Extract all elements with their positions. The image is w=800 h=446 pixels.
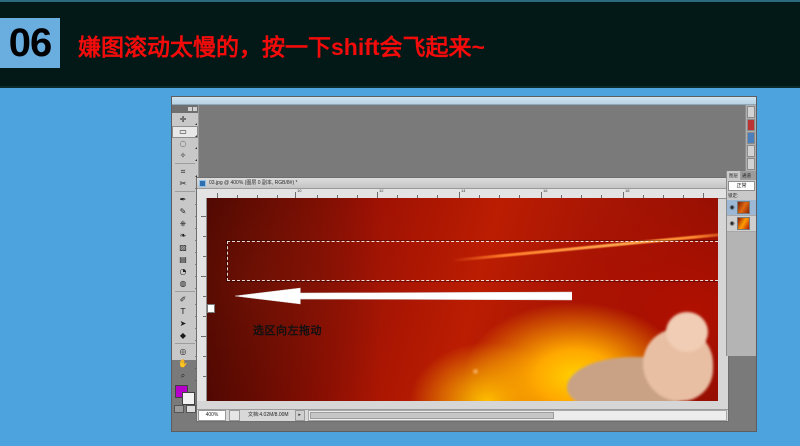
slice-tool-icon: ✂ xyxy=(175,179,191,190)
application-title-bar[interactable] xyxy=(172,97,756,105)
magic-wand-tool-icon: ✧ xyxy=(175,151,191,162)
tool-pen-tool[interactable]: ✐ xyxy=(172,294,198,306)
tool-hand-tool[interactable]: ✋ xyxy=(172,358,198,370)
selection-marquee[interactable] xyxy=(227,241,718,282)
tool-path-selection-tool[interactable]: ➤ xyxy=(172,318,198,330)
ruler-label: 10 xyxy=(297,189,301,193)
tool-history-brush-tool[interactable]: ❧ xyxy=(172,230,198,242)
history-panel-icon[interactable] xyxy=(747,132,755,144)
document-size-info: 文档:4.02M/8.00M xyxy=(248,413,289,418)
horizontal-scrollbar[interactable] xyxy=(308,410,727,421)
path-selection-tool-icon: ➤ xyxy=(175,319,191,330)
blur-tool-icon: ◔ xyxy=(175,267,191,278)
dodge-tool-icon: ◍ xyxy=(175,279,191,290)
tool-palette-header[interactable] xyxy=(172,105,198,113)
healing-brush-tool-icon: ✒ xyxy=(175,195,191,206)
color-swatches[interactable] xyxy=(172,384,198,404)
status-thumbnail-icon xyxy=(229,410,240,421)
banner-top-rule xyxy=(0,0,800,2)
layers-panel[interactable]: 图层 通道 正常 锁定: ◉ ◉ xyxy=(726,171,756,356)
tool-eraser-tool[interactable]: ▨ xyxy=(172,242,198,254)
hand-tool-icon: ✋ xyxy=(175,359,191,370)
layer-thumbnail[interactable] xyxy=(737,217,750,230)
ruler-label: 14 xyxy=(461,189,465,193)
close-icon[interactable] xyxy=(193,107,197,111)
tool-move-tool[interactable]: ✛ xyxy=(172,114,198,126)
banner-title: 嫌图滚动太慢的，按一下shift会飞起来~ xyxy=(78,28,485,62)
ruler-label: 12 xyxy=(379,189,383,193)
drag-direction-arrow xyxy=(235,287,572,305)
ruler-label: 18 xyxy=(625,189,629,193)
header-banner: 06 嫌图滚动太慢的，按一下shift会飞起来~ xyxy=(0,0,800,88)
tab-channels[interactable]: 通道 xyxy=(740,171,753,180)
vertical-ruler[interactable] xyxy=(197,198,207,401)
background-color-swatch[interactable] xyxy=(182,392,195,405)
crop-tool-icon: ⌗ xyxy=(175,167,191,178)
tab-layers[interactable]: 图层 xyxy=(727,171,740,180)
tool-slice-tool[interactable]: ✂ xyxy=(172,178,198,190)
tool-zoom-tool[interactable]: ⌕ xyxy=(172,370,198,382)
gradient-tool-icon: ▤ xyxy=(175,255,191,266)
tool-dodge-tool[interactable]: ◍ xyxy=(172,278,198,290)
blend-mode-row[interactable]: 正常 xyxy=(727,180,756,191)
zoom-level-field[interactable]: 400% xyxy=(198,410,226,421)
tool-clone-stamp-tool[interactable]: ⎈ xyxy=(172,218,198,230)
tool-healing-brush-tool[interactable]: ✒ xyxy=(172,194,198,206)
eraser-tool-icon: ▨ xyxy=(175,243,191,254)
artwork-light-dot xyxy=(473,369,478,374)
shape-tool-icon: ◆ xyxy=(175,331,191,342)
lasso-tool-icon: ◌ xyxy=(175,139,191,150)
layer-visibility-icon[interactable]: ◉ xyxy=(728,204,736,212)
layers-panel-tabs[interactable]: 图层 通道 xyxy=(727,171,756,180)
document-title-text: 03.jpg @ 400% (图层 0 副本, RGB/8#) * xyxy=(209,181,297,186)
minimize-icon[interactable] xyxy=(188,107,192,111)
pen-tool-icon: ✐ xyxy=(175,295,191,306)
artwork-skin-highlight xyxy=(666,312,708,352)
selection-handle[interactable] xyxy=(207,304,215,313)
color-panel-icon[interactable] xyxy=(747,119,755,131)
tool-list[interactable]: ✛ ▭ ◌ ✧ ⌗ ✂ ✒ ✎ ⎈ ❧ ▨ ▤ ◔ ◍ ✐ T ➤ ◆ ◎ ✋ … xyxy=(172,113,198,413)
photoshop-document-icon xyxy=(199,180,206,187)
tool-type-tool[interactable]: T xyxy=(172,306,198,318)
tool-brush-tool[interactable]: ✎ xyxy=(172,206,198,218)
lock-label: 锁定: xyxy=(728,191,738,200)
annotation-label: 选区向左拖动 xyxy=(253,322,322,338)
layer-visibility-icon[interactable]: ◉ xyxy=(728,220,736,228)
tool-shape-tool[interactable]: ◆ xyxy=(172,330,198,342)
tool-palette[interactable]: ✛ ▭ ◌ ✧ ⌗ ✂ ✒ ✎ ⎈ ❧ ▨ ▤ ◔ ◍ ✐ T ➤ ◆ ◎ ✋ … xyxy=(172,105,199,360)
step-number: 06 xyxy=(9,23,52,63)
tool-rectangular-marquee-tool[interactable]: ▭ xyxy=(172,126,198,138)
tool-gradient-tool[interactable]: ▤ xyxy=(172,254,198,266)
layer-thumbnail[interactable] xyxy=(737,201,750,214)
quick-mask-toggle[interactable] xyxy=(172,404,198,413)
notes-tool-icon: ◎ xyxy=(175,347,191,358)
photoshop-application-window[interactable]: ✛ ▭ ◌ ✧ ⌗ ✂ ✒ ✎ ⎈ ❧ ▨ ▤ ◔ ◍ ✐ T ➤ ◆ ◎ ✋ … xyxy=(172,97,756,431)
zoom-tool-icon: ⌕ xyxy=(175,371,191,382)
image-canvas[interactable]: 选区向左拖动 xyxy=(207,198,718,401)
quick-mask-mode-icon[interactable] xyxy=(186,405,196,413)
document-title-bar[interactable]: 03.jpg @ 400% (图层 0 副本, RGB/8#) * xyxy=(197,178,728,189)
document-window[interactable]: 03.jpg @ 400% (图层 0 副本, RGB/8#) * 10 12 … xyxy=(196,177,729,422)
styles-panel-icon[interactable] xyxy=(747,145,755,157)
blend-mode-select[interactable]: 正常 xyxy=(728,181,755,191)
tool-magic-wand-tool[interactable]: ✧ xyxy=(172,150,198,162)
move-tool-icon: ✛ xyxy=(175,115,191,126)
tool-lasso-tool[interactable]: ◌ xyxy=(172,138,198,150)
lock-row[interactable]: 锁定: xyxy=(727,191,756,200)
brush-tool-icon: ✎ xyxy=(175,207,191,218)
panel-side-icon-strip[interactable] xyxy=(745,105,756,171)
navigator-panel-icon[interactable] xyxy=(747,106,755,118)
clone-stamp-tool-icon: ⎈ xyxy=(175,219,191,230)
document-status-bar[interactable]: 400% 文档:4.02M/8.00M ▸ xyxy=(197,409,728,421)
tool-crop-tool[interactable]: ⌗ xyxy=(172,166,198,178)
status-menu-arrow-icon[interactable]: ▸ xyxy=(295,410,305,421)
actions-panel-icon[interactable] xyxy=(747,158,755,170)
history-brush-tool-icon: ❧ xyxy=(175,231,191,242)
tool-blur-tool[interactable]: ◔ xyxy=(172,266,198,278)
rectangular-marquee-tool-icon: ▭ xyxy=(175,127,191,138)
ruler-label: 16 xyxy=(543,189,547,193)
layer-item-copy[interactable]: ◉ xyxy=(727,200,756,216)
tool-notes-tool[interactable]: ◎ xyxy=(172,346,198,358)
standard-mode-icon[interactable] xyxy=(174,405,184,413)
layer-item-background[interactable]: ◉ xyxy=(727,216,756,232)
type-tool-icon: T xyxy=(175,307,191,318)
step-number-badge: 06 xyxy=(0,18,60,68)
